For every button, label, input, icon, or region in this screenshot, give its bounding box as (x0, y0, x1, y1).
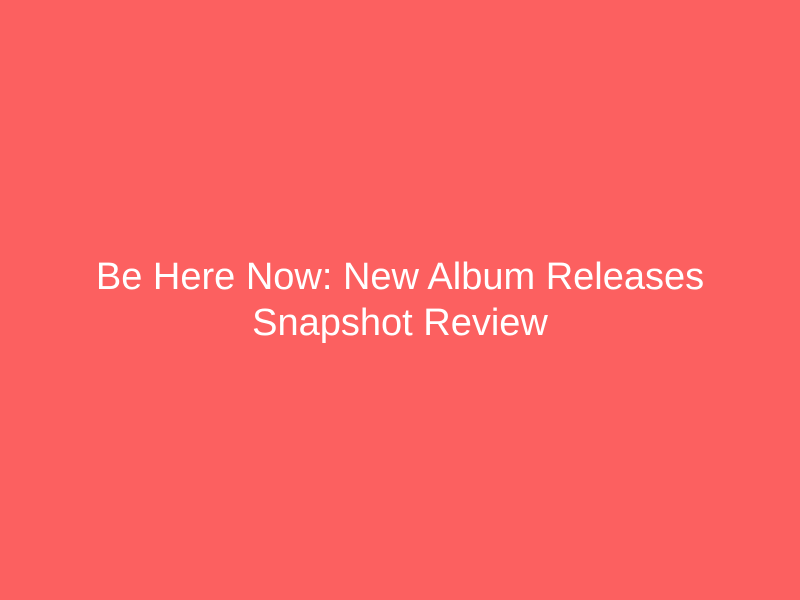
page-title: Be Here Now: New Album Releases Snapshot… (55, 254, 745, 346)
placeholder-card: Be Here Now: New Album Releases Snapshot… (0, 0, 800, 600)
title-container: Be Here Now: New Album Releases Snapshot… (55, 254, 745, 346)
